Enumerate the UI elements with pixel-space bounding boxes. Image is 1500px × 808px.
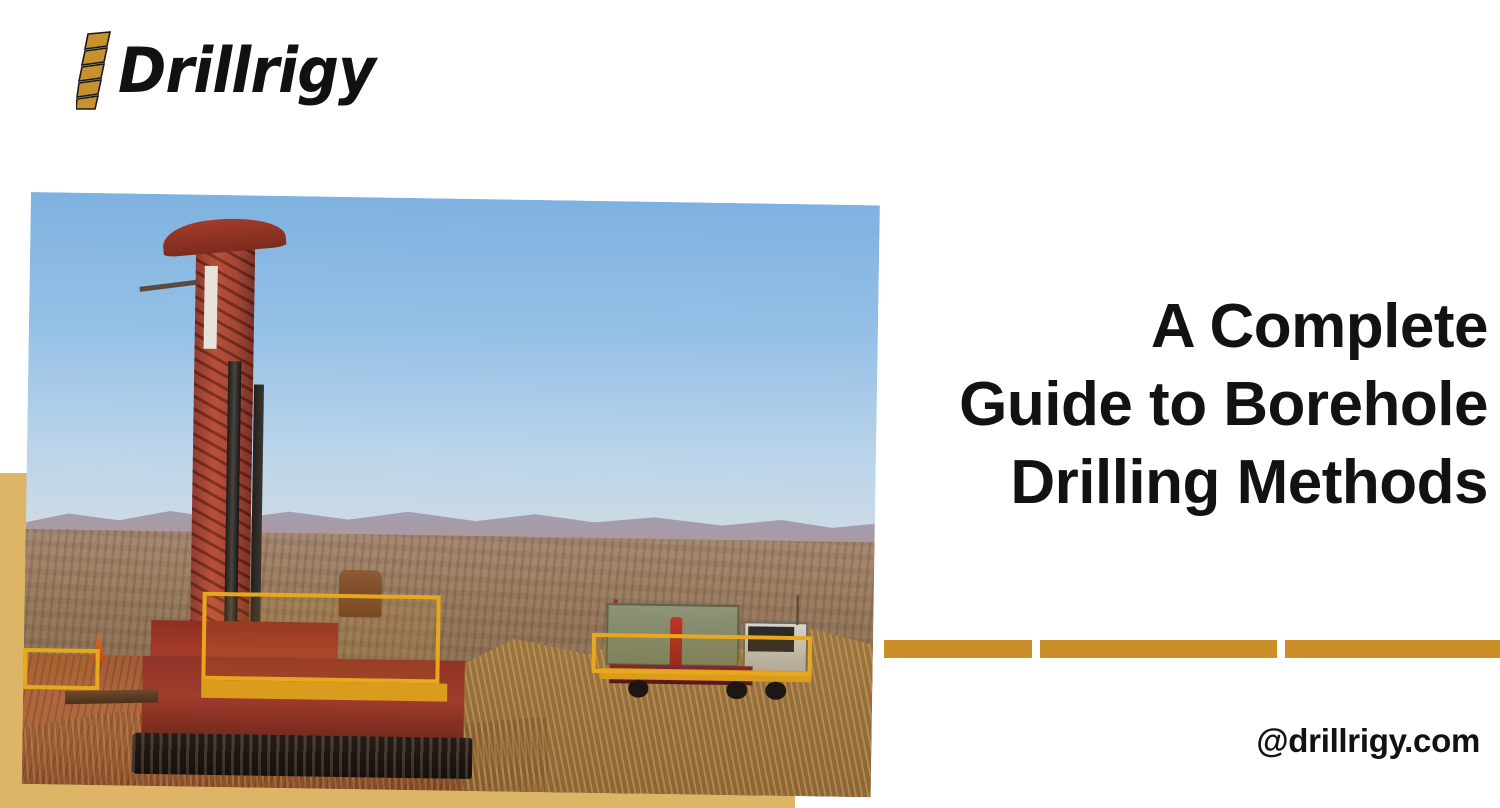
sky	[26, 192, 880, 537]
hero-photo	[22, 192, 880, 797]
left-safety-railing	[23, 648, 100, 691]
accent-bar-1	[884, 640, 1032, 658]
page-title-line-2: Guide to Borehole	[848, 366, 1488, 444]
hero-photo-scene	[22, 192, 880, 797]
support-truck	[600, 592, 831, 732]
accent-bar-2	[1040, 640, 1277, 658]
rig-platform-railing	[202, 591, 441, 684]
accent-bar-group	[884, 640, 1500, 658]
accent-bar-3	[1285, 640, 1500, 658]
brand-logo-text: Drillrigy	[118, 40, 375, 102]
truck-wheel	[628, 679, 649, 697]
drill-bit-icon	[76, 30, 122, 112]
track-texture	[132, 732, 472, 779]
truck-whip-antenna	[796, 595, 799, 625]
mast-name-plate	[203, 266, 217, 349]
rig-crawler-track	[132, 732, 472, 779]
brand-logo[interactable]: Drillrigy	[76, 30, 391, 112]
site-url[interactable]: @drillrigy.com	[1256, 722, 1480, 760]
page-title: A Complete Guide to Borehole Drilling Me…	[848, 288, 1488, 522]
truck-wheel	[727, 681, 748, 699]
page-title-line-1: A Complete	[848, 288, 1488, 366]
page-title-line-3: Drilling Methods	[848, 444, 1488, 522]
truck-safety-railing	[592, 632, 813, 676]
ground-timber	[65, 690, 159, 705]
truck-wheel	[765, 681, 786, 699]
